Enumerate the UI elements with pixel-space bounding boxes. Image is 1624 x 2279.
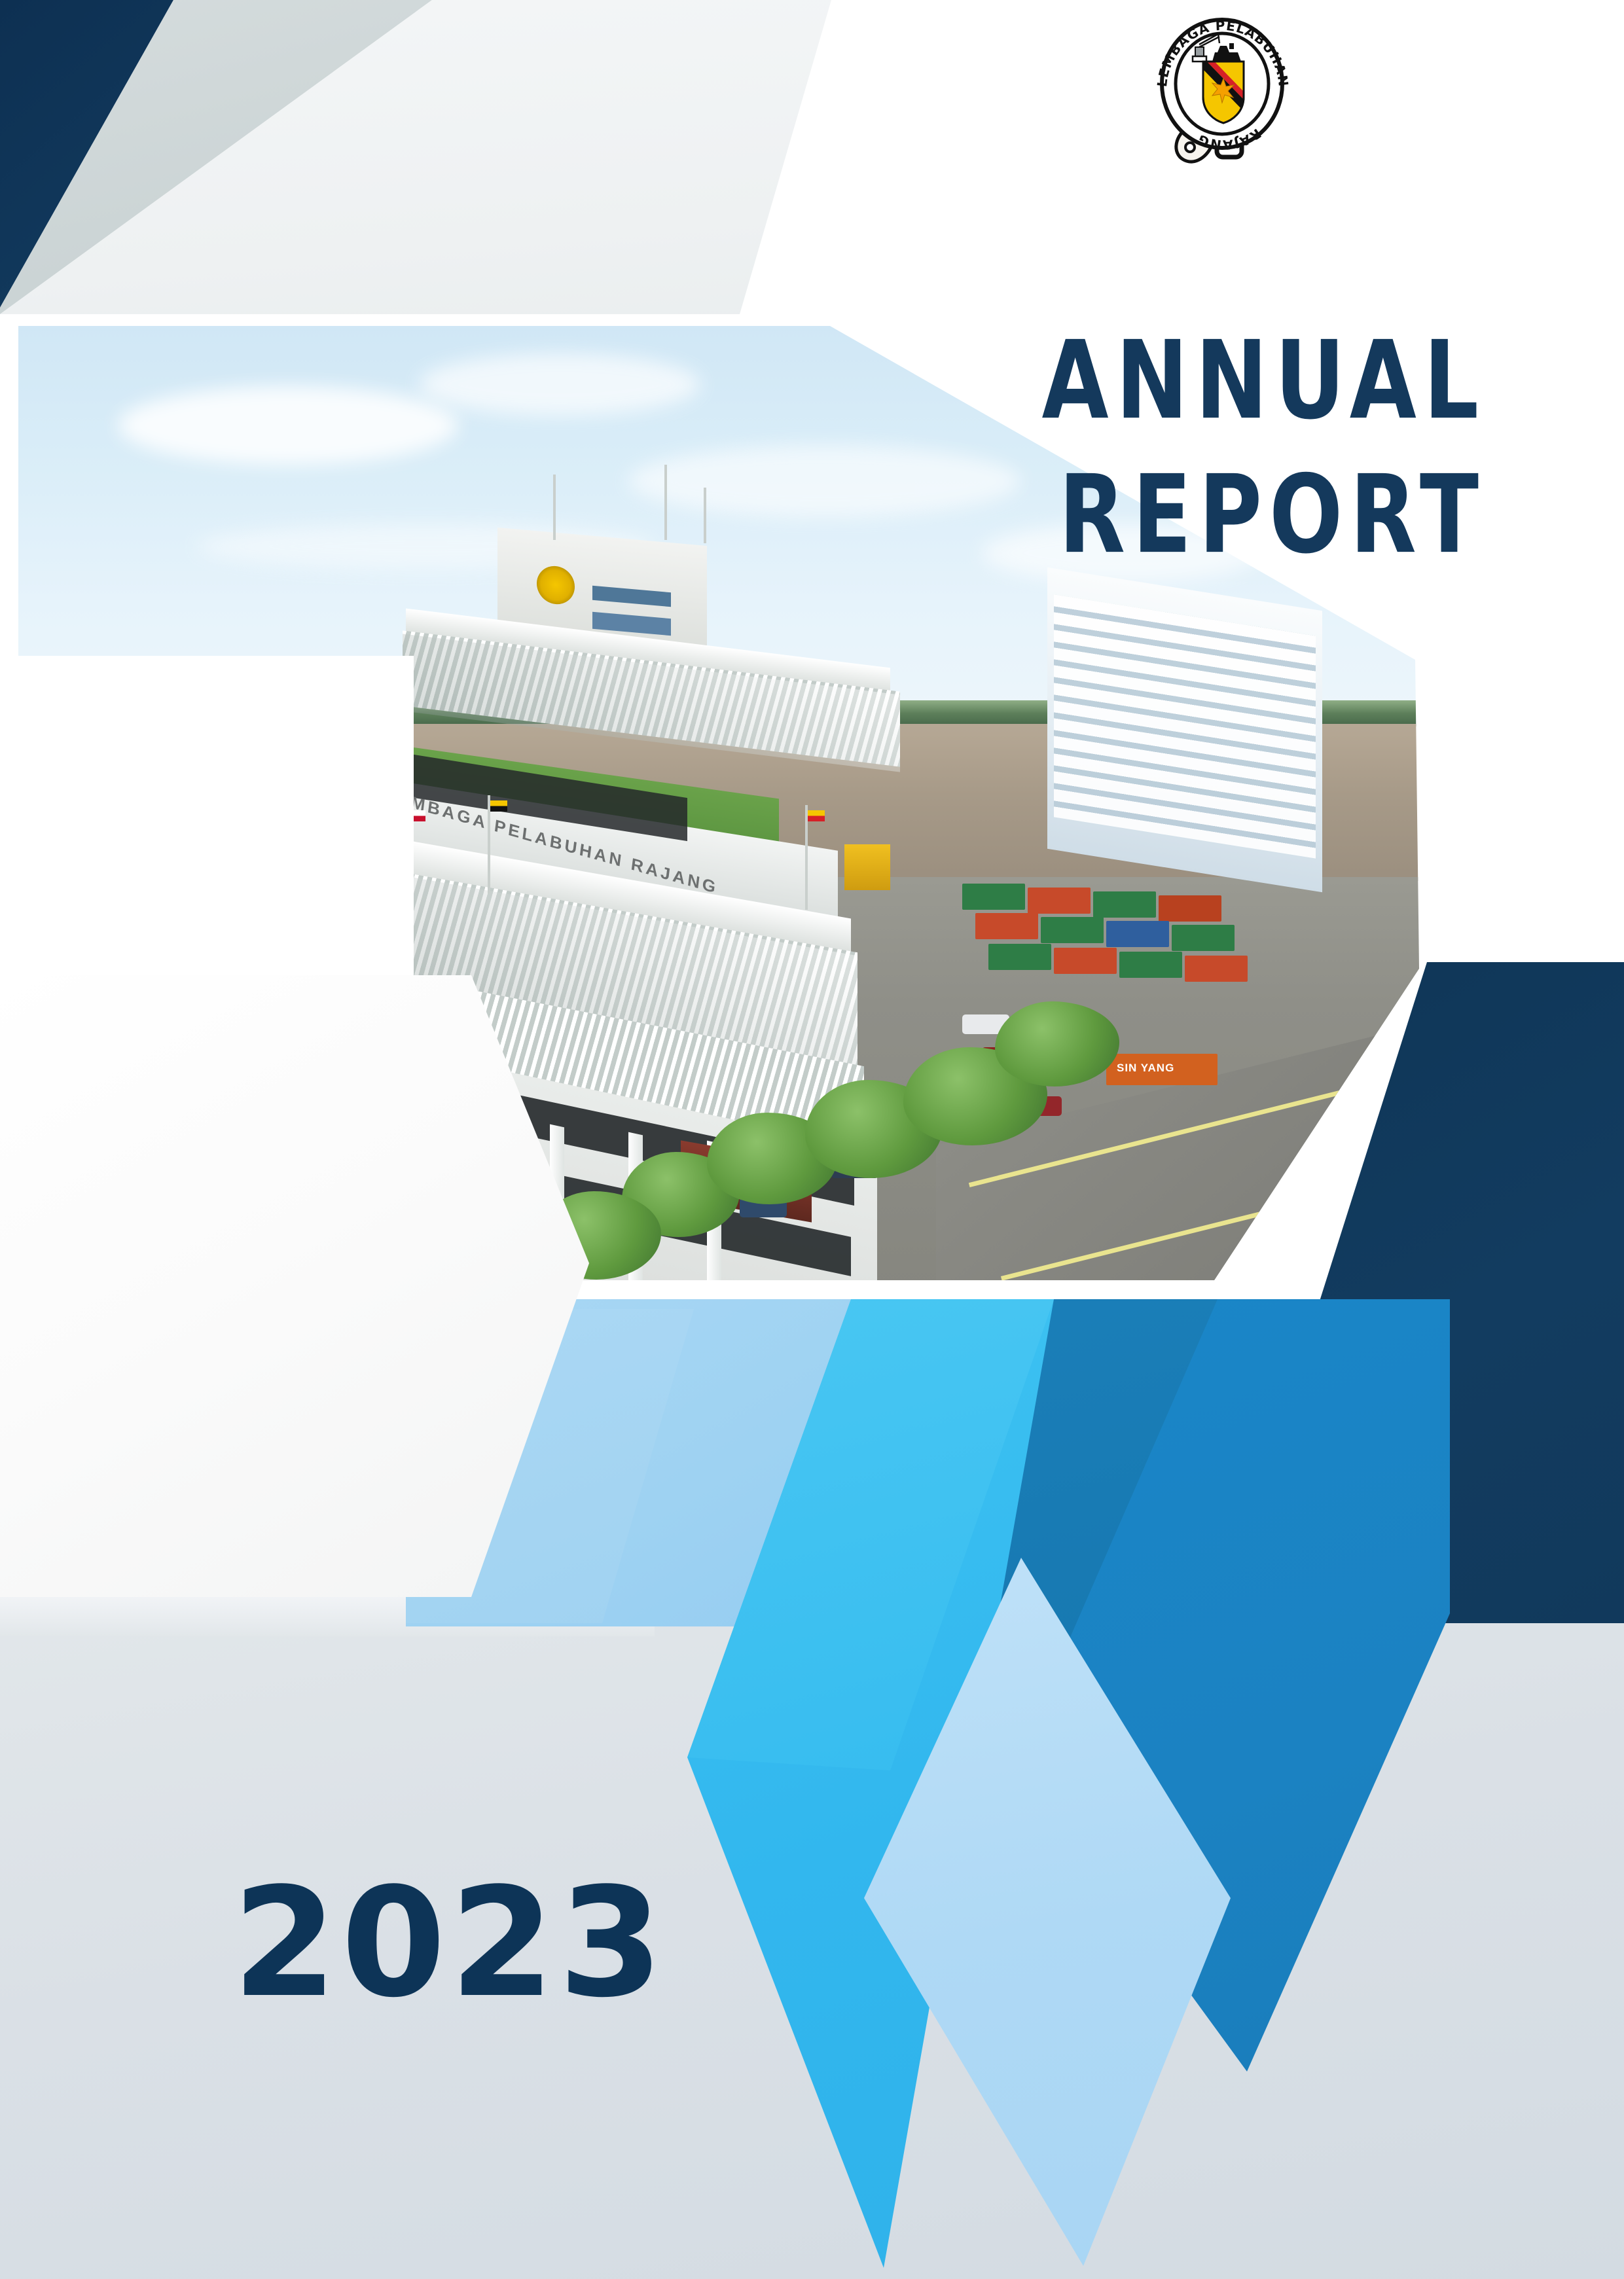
cover-year: 2023 [232,1869,667,2019]
photo-cloud [118,386,458,465]
title-line-report: REPORT [897,431,1486,599]
photo-crane-mast [98,700,103,805]
photo-cloud [419,353,700,416]
photo-container [975,913,1038,939]
organization-logo: LEMBAGA PELABUHAN RAJANG [1152,13,1293,177]
photo-flagpole [327,818,330,916]
photo-container [1185,956,1248,982]
cover-title: ANNUAL REPORT [897,314,1486,582]
photo-container [988,944,1051,970]
photo-port-machine [844,844,890,890]
photo-tree [249,818,301,859]
photo-flag [408,810,425,821]
photo-container [1028,888,1091,914]
photo-roof-hut [196,719,340,809]
photo-antenna [664,465,667,540]
shield-icon [1203,50,1244,123]
photo-container [1172,925,1235,951]
photo-antenna [553,475,556,540]
photo-office-windows [1054,594,1316,858]
logo-svg: LEMBAGA PELABUHAN RAJANG [1152,13,1293,177]
photo-flagpole [406,805,408,903]
photo-container-label: SIN YANG [1117,1062,1174,1075]
photo-container [962,884,1025,910]
photo-container [1054,948,1117,974]
photo-container [1106,921,1169,947]
photo-crane-jib [70,688,139,714]
annual-report-cover-page: LEMBAGA PELABUHAN RAJANG BOARD MEMBER BO… [0,0,1624,2279]
photo-container [1119,952,1182,978]
photo-flag [808,810,825,821]
photo-flag [490,800,507,812]
white-hexagon-panel [0,975,589,1597]
photo-antenna [704,488,706,543]
photo-container [1093,891,1156,918]
photo-container [1041,917,1104,943]
photo-flag [330,823,347,834]
photo-container [1159,895,1221,922]
